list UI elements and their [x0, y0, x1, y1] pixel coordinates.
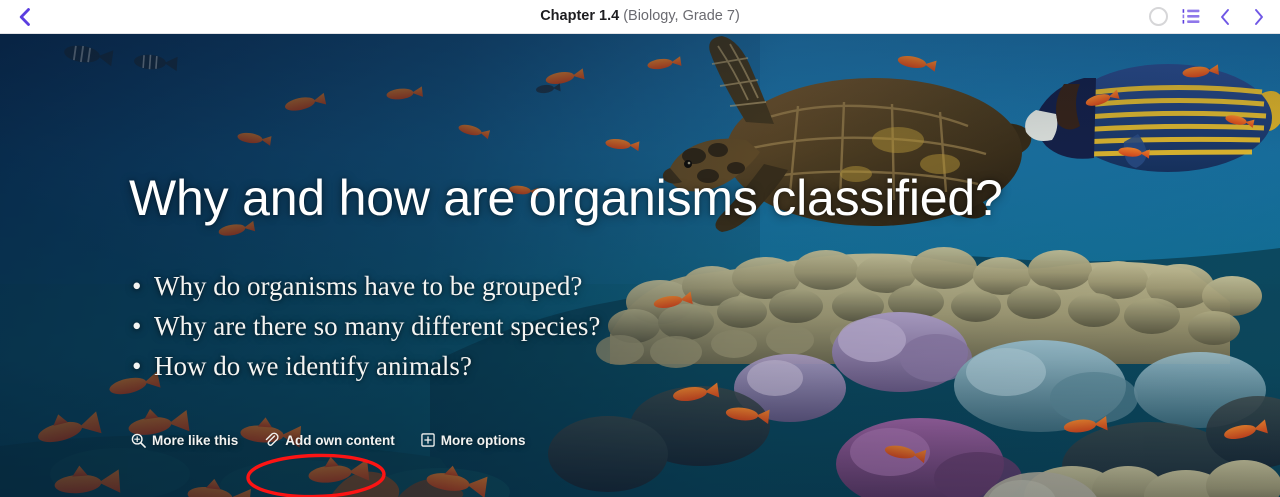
bullet-text: Why do organisms have to be grouped?: [154, 271, 582, 301]
slide-action-bar: More like this Add own content: [131, 432, 526, 448]
add-own-content-label: Add own content: [285, 433, 394, 448]
bullet-text: Why are there so many different species?: [154, 311, 600, 341]
chevron-right-icon: [1253, 8, 1265, 26]
slide-content: Why and how are organisms classified? • …: [0, 34, 1280, 497]
header-chapter-label: Chapter 1.4: [540, 8, 619, 24]
annotation-ellipse: [245, 452, 393, 497]
more-like-this-label: More like this: [152, 433, 238, 448]
ordered-list-icon: [1182, 8, 1200, 25]
plus-square-icon: [421, 433, 435, 447]
app-header: Chapter 1.4 (Biology, Grade 7): [0, 0, 1280, 34]
bullet-marker: •: [132, 266, 141, 306]
bullet-marker: •: [132, 346, 141, 386]
more-options-button[interactable]: More options: [421, 433, 526, 448]
slide-bullet-list: • Why do organisms have to be grouped? •…: [132, 266, 600, 386]
next-slide-button[interactable]: [1248, 5, 1270, 29]
bullet-text: How do we identify animals?: [154, 351, 472, 381]
list-item: • How do we identify animals?: [132, 346, 600, 386]
zoom-in-icon: [131, 433, 146, 448]
add-own-content-button[interactable]: Add own content: [264, 432, 394, 448]
list-item: • Why are there so many different specie…: [132, 306, 600, 346]
header-actions: [1149, 0, 1270, 33]
slide-canvas: Why and how are organisms classified? • …: [0, 34, 1280, 497]
lesson-slide-app: Chapter 1.4 (Biology, Grade 7): [0, 0, 1280, 497]
ordered-list-button[interactable]: [1180, 5, 1202, 29]
header-subject-label: (Biology, Grade 7): [623, 8, 740, 24]
list-item: • Why do organisms have to be grouped?: [132, 266, 600, 306]
slide-title: Why and how are organisms classified?: [129, 169, 1003, 227]
circle-progress-icon: [1149, 7, 1168, 26]
previous-slide-button[interactable]: [1214, 5, 1236, 29]
chevron-left-icon: [1219, 8, 1231, 26]
bullet-marker: •: [132, 306, 141, 346]
paperclip-icon: [264, 432, 279, 448]
more-options-label: More options: [441, 433, 526, 448]
more-like-this-button[interactable]: More like this: [131, 433, 238, 448]
page-title: Chapter 1.4 (Biology, Grade 7): [0, 0, 1280, 33]
